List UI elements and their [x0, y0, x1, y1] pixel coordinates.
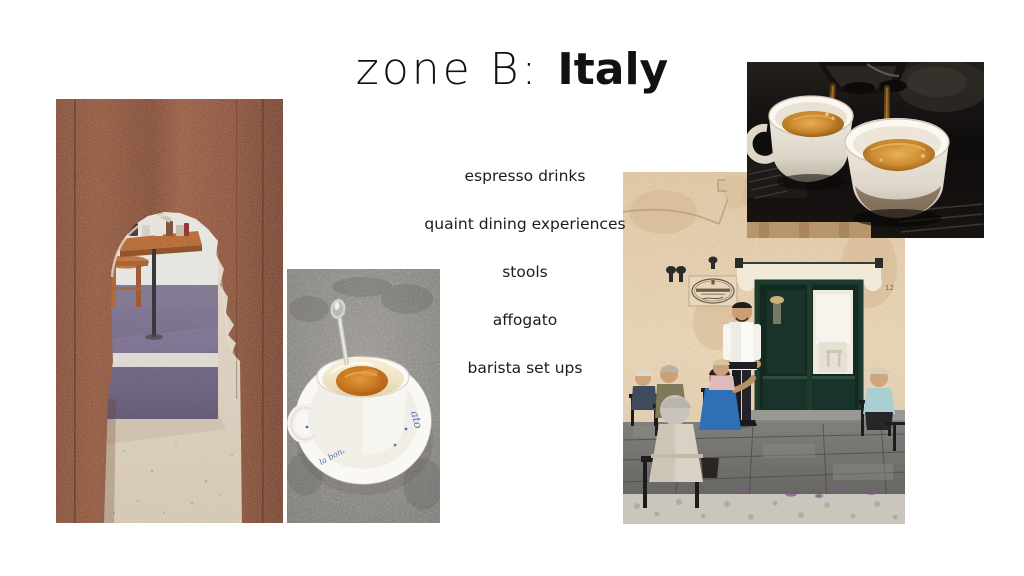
- page-title-emphasis: Italy: [557, 44, 668, 95]
- rusted-wall-doorway-photo: [56, 99, 283, 523]
- keyword-item: quaint dining experiences: [392, 214, 658, 234]
- moodboard-slide: zone B:Italy espresso drinks quaint dini…: [0, 0, 1024, 576]
- espresso-pour-photo: [747, 62, 984, 238]
- keyword-item: barista set ups: [392, 358, 658, 378]
- keyword-item: affogato: [392, 310, 658, 330]
- keyword-list: espresso drinks quaint dining experience…: [392, 166, 658, 378]
- keyword-item: stools: [392, 262, 658, 282]
- svg-text:12: 12: [885, 284, 894, 292]
- keyword-item: espresso drinks: [392, 166, 658, 186]
- page-title-prefix: zone B:: [356, 44, 540, 95]
